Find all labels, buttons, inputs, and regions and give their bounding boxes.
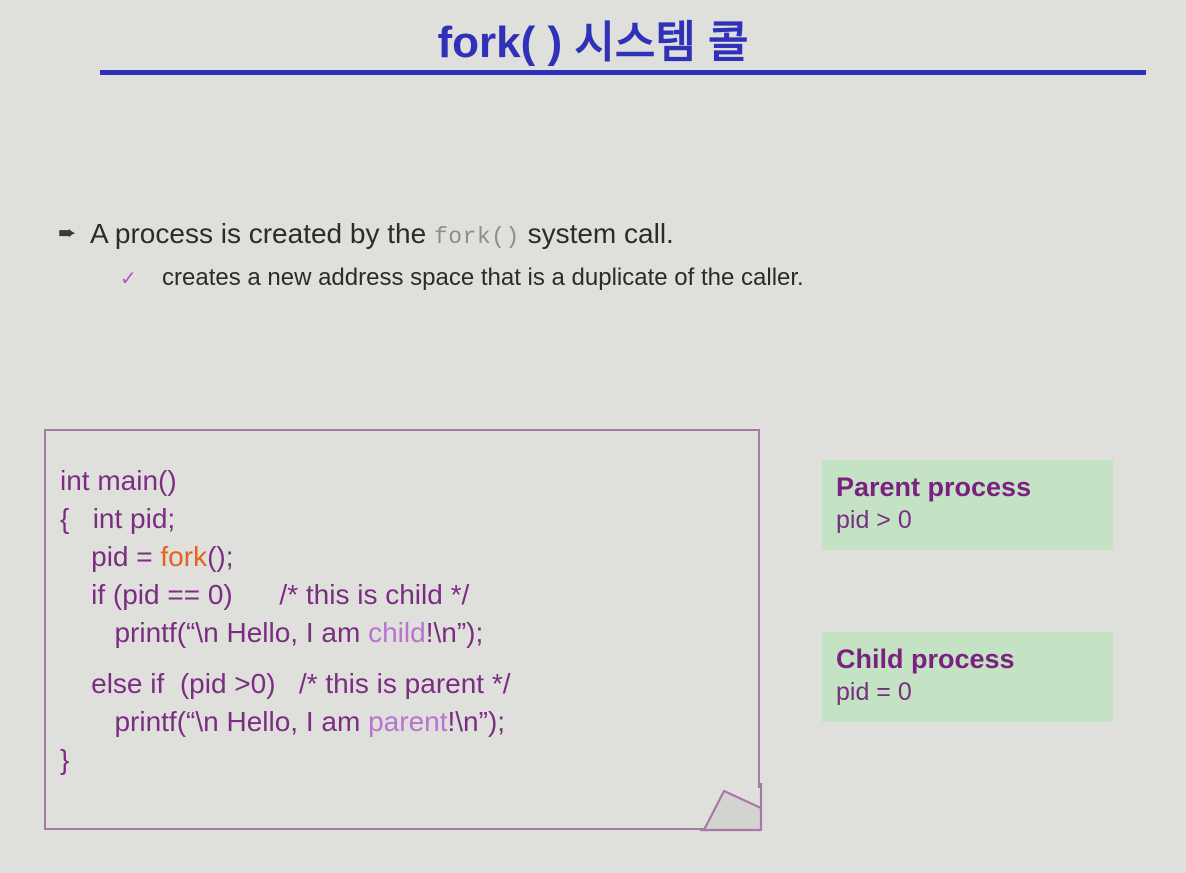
check-bullet-icon: ✓ [120,269,162,289]
code-token: (); [207,541,233,572]
code-token: else if (pid >0) /* this is parent */ [60,668,511,699]
code-line: if (pid == 0) /* this is child */ [60,576,750,614]
code-token: !\n”); [426,617,484,648]
bullet-level1-text-after: system call. [520,218,674,250]
code-line: printf(“\n Hello, I am parent!\n”); [60,703,750,741]
bullet-level2-text: creates a new address space that is a du… [162,264,804,292]
callout-child-title: Child process [836,642,1099,676]
callout-parent-subtitle: pid > 0 [836,504,1099,536]
code-token: !\n”); [448,706,506,737]
code-token-highlight: fork [160,541,207,572]
code-token: } [60,744,69,775]
code-token: if (pid == 0) /* this is child */ [60,579,469,610]
code-line: { int pid; [60,500,750,538]
page-title: fork( ) 시스템 콜 [0,6,1186,70]
code-line: printf(“\n Hello, I am child!\n”); [60,614,750,652]
callout-child-process: Child process pid = 0 [822,632,1113,722]
code-token-highlight: parent [368,706,447,737]
bullet-level1-code-fragment: fork() [434,224,520,250]
code-line-blank [60,652,750,665]
callout-parent-title: Parent process [836,470,1099,504]
callout-child-subtitle: pid = 0 [836,676,1099,708]
code-token: { int pid; [60,503,175,534]
code-line: else if (pid >0) /* this is parent */ [60,665,750,703]
code-token: printf(“\n Hello, I am [60,706,368,737]
callout-parent-process: Parent process pid > 0 [822,460,1113,550]
code-token: pid = [60,541,160,572]
code-token: int main() [60,465,177,496]
page-fold-corner-icon [700,783,764,835]
bullet-level1: ➨ A process is created by the fork() sys… [58,218,674,250]
code-line: } [60,741,750,779]
title-underline-rule [100,70,1146,75]
code-listing-text: int main(){ int pid; pid = fork(); if (p… [60,462,750,779]
bullet-level2: ✓ creates a new address space that is a … [120,264,804,292]
bullet-level1-text-before: A process is created by the [90,218,434,250]
code-line: int main() [60,462,750,500]
arrow-bullet-icon: ➨ [58,222,90,244]
code-line: pid = fork(); [60,538,750,576]
code-token-highlight: child [368,617,426,648]
code-token: printf(“\n Hello, I am [60,617,368,648]
